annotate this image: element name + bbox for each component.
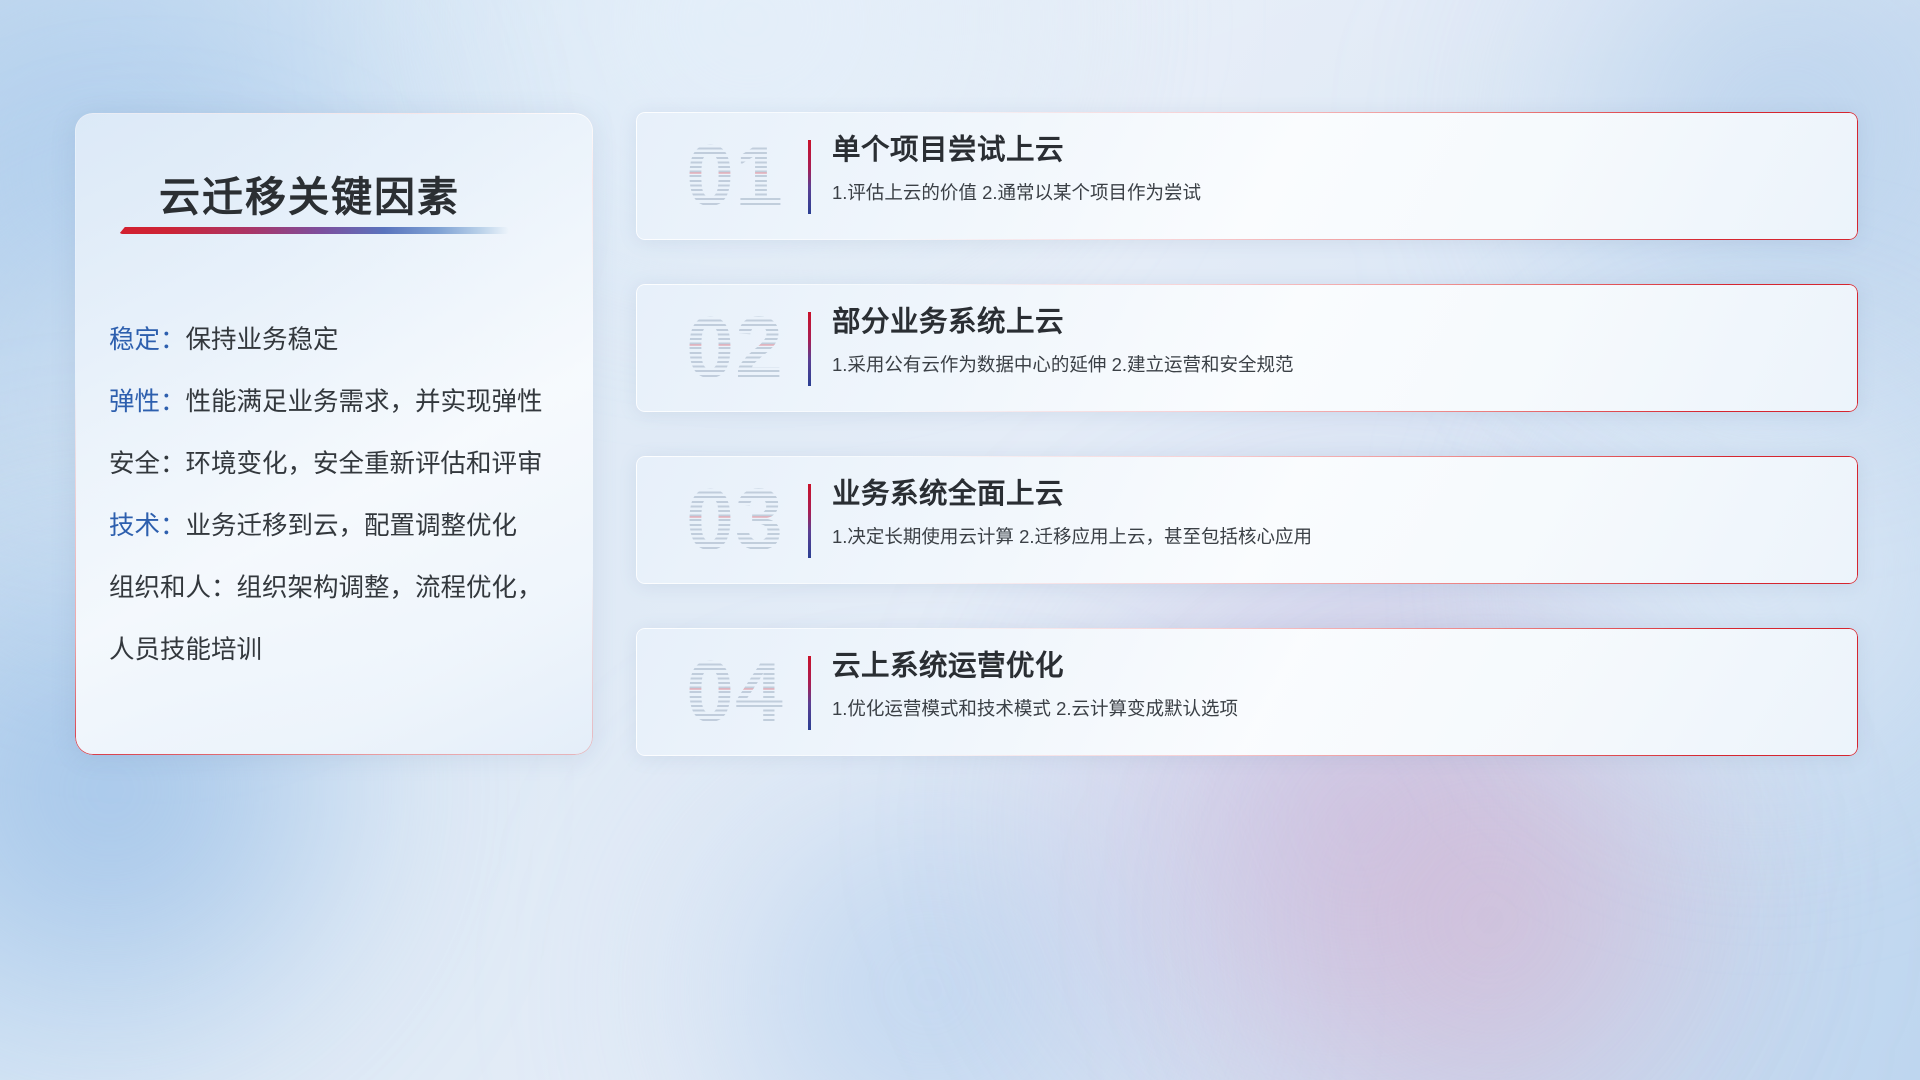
factor-item: 稳定：保持业务稳定 <box>109 309 575 371</box>
factor-item: 组织和人：组织架构调整，流程优化， <box>109 557 575 619</box>
step-content: 云上系统运营优化1.优化运营模式和技术模式 2.云计算变成默认选项 <box>832 646 1832 722</box>
factor-description: 环境变化，安全重新评估和评审 <box>186 433 543 495</box>
step-content: 部分业务系统上云1.采用公有云作为数据中心的延伸 2.建立运营和安全规范 <box>832 302 1832 378</box>
step-card[interactable]: 0303业务系统全面上云1.决定长期使用云计算 2.迁移应用上云，甚至包括核心应… <box>636 456 1858 584</box>
factor-description: 保持业务稳定 <box>186 309 339 371</box>
step-number-watermark: 02 <box>660 292 810 404</box>
step-divider-accent <box>808 656 811 730</box>
factor-description: 业务迁移到云，配置调整优化 <box>186 495 518 557</box>
step-divider-accent <box>808 312 811 386</box>
step-title: 部分业务系统上云 <box>832 302 1832 342</box>
step-subtitle: 1.优化运营模式和技术模式 2.云计算变成默认选项 <box>832 696 1832 722</box>
migration-steps-list: 0101单个项目尝试上云1.评估上云的价值 2.通常以某个项目作为尝试0202部… <box>636 112 1858 800</box>
step-content: 单个项目尝试上云1.评估上云的价值 2.通常以某个项目作为尝试 <box>832 130 1832 206</box>
factor-item: 人员技能培训 <box>109 619 575 681</box>
step-card[interactable]: 0101单个项目尝试上云1.评估上云的价值 2.通常以某个项目作为尝试 <box>636 112 1858 240</box>
factor-label: 弹性： <box>109 371 186 433</box>
factor-description: 性能满足业务需求，并实现弹性 <box>186 371 543 433</box>
step-divider-accent <box>808 140 811 214</box>
step-title: 业务系统全面上云 <box>832 474 1832 514</box>
step-number-watermark: 01 <box>660 120 810 232</box>
step-title: 云上系统运营优化 <box>832 646 1832 686</box>
factor-label: 稳定： <box>109 309 186 371</box>
step-subtitle: 1.采用公有云作为数据中心的延伸 2.建立运营和安全规范 <box>832 352 1832 378</box>
step-number-watermark-tint: 03 <box>660 464 810 576</box>
step-number-watermark-tint: 01 <box>660 120 810 232</box>
step-card[interactable]: 0404云上系统运营优化1.优化运营模式和技术模式 2.云计算变成默认选项 <box>636 628 1858 756</box>
factor-label: 安全： <box>109 433 186 495</box>
factor-description: 人员技能培训 <box>109 619 262 681</box>
step-subtitle: 1.评估上云的价值 2.通常以某个项目作为尝试 <box>832 180 1832 206</box>
step-divider-accent <box>808 484 811 558</box>
factor-item: 安全：环境变化，安全重新评估和评审 <box>109 433 575 495</box>
key-factors-list: 稳定：保持业务稳定弹性：性能满足业务需求，并实现弹性安全：环境变化，安全重新评估… <box>109 309 575 681</box>
factor-item: 技术：业务迁移到云，配置调整优化 <box>109 495 575 557</box>
factor-description: 组织架构调整，流程优化， <box>237 557 543 619</box>
factor-label: 技术： <box>109 495 186 557</box>
step-number-watermark: 04 <box>660 636 810 748</box>
step-subtitle: 1.决定长期使用云计算 2.迁移应用上云，甚至包括核心应用 <box>832 524 1832 550</box>
step-title: 单个项目尝试上云 <box>832 130 1832 170</box>
step-card[interactable]: 0202部分业务系统上云1.采用公有云作为数据中心的延伸 2.建立运营和安全规范 <box>636 284 1858 412</box>
step-number-watermark-tint: 02 <box>660 292 810 404</box>
factor-item: 弹性：性能满足业务需求，并实现弹性 <box>109 371 575 433</box>
key-factors-panel: 云迁移关键因素 稳定：保持业务稳定弹性：性能满足业务需求，并实现弹性安全：环境变… <box>75 113 593 755</box>
step-number-watermark: 03 <box>660 464 810 576</box>
page-title: 云迁移关键因素 <box>159 163 460 223</box>
step-number-watermark-tint: 04 <box>660 636 810 748</box>
factor-label: 组织和人： <box>109 557 237 619</box>
title-underline-accent <box>119 227 509 234</box>
step-content: 业务系统全面上云1.决定长期使用云计算 2.迁移应用上云，甚至包括核心应用 <box>832 474 1832 550</box>
